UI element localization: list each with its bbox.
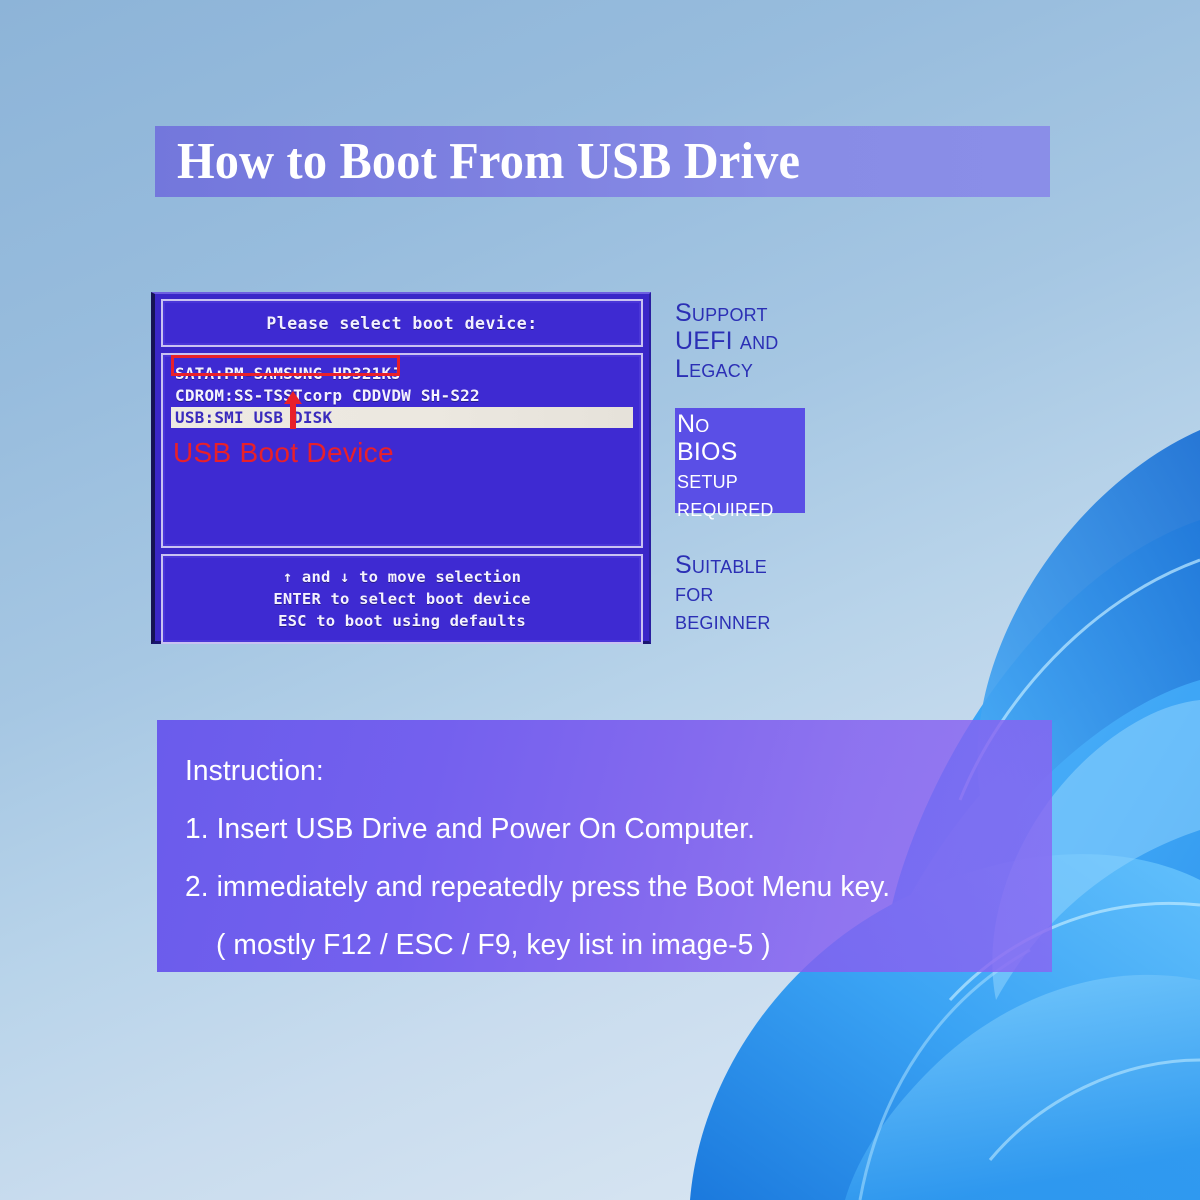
bios-device-row[interactable]: CDROM:SS-TSSTcorp CDDVDW SH-S22 — [163, 385, 641, 407]
bios-footer-line: ENTER to select boot device — [273, 588, 530, 610]
bios-boot-menu-screenshot: Please select boot device: SATA:PM-SAMSU… — [151, 292, 651, 644]
bios-device-list: SATA:PM-SAMSUNG HD321KJ CDROM:SS-TSSTcor… — [161, 353, 643, 548]
usb-boot-device-annotation: USB Boot Device — [173, 437, 394, 469]
bios-header-text: Please select boot device: — [266, 314, 537, 333]
bios-device-row[interactable]: SATA:PM-SAMSUNG HD321KJ — [163, 363, 641, 385]
instruction-step: 2. immediately and repeatedly press the … — [185, 858, 1026, 916]
bios-footer-line: ↑ and ↓ to move selection — [283, 566, 521, 588]
feature-line: Legacy — [675, 355, 825, 383]
feature-line: setup — [677, 466, 805, 494]
feature-suitable-for-beginner: Suitable for beginner — [675, 551, 835, 635]
feature-line: Support — [675, 299, 825, 327]
feature-line: for — [675, 579, 835, 607]
instruction-panel: Instruction: 1. Insert USB Drive and Pow… — [157, 720, 1052, 972]
feature-line: Suitable — [675, 551, 835, 579]
feature-line: No — [677, 410, 805, 438]
bios-header-panel: Please select boot device: — [161, 299, 643, 347]
bios-footer-panel: ↑ and ↓ to move selection ENTER to selec… — [161, 554, 643, 644]
instruction-step: 1. Insert USB Drive and Power On Compute… — [185, 800, 1026, 858]
page-title: How to Boot From USB Drive — [177, 136, 800, 188]
feature-line: BIOS — [677, 438, 805, 466]
bios-device-row-selected-usb[interactable]: USB:SMI USB DISK — [171, 407, 633, 428]
instruction-heading: Instruction: — [185, 742, 1026, 800]
feature-line: UEFI and — [675, 327, 825, 355]
instruction-note: ( mostly F12 / ESC / F9, key list in ima… — [185, 916, 1026, 974]
bios-footer-line: ESC to boot using defaults — [278, 610, 526, 632]
feature-line: required — [677, 494, 805, 522]
feature-no-bios-setup-required: No BIOS setup required — [675, 408, 805, 513]
feature-support-uefi-legacy: Support UEFI and Legacy — [675, 299, 825, 383]
page-root: How to Boot From USB Drive Please select… — [0, 0, 1200, 1200]
page-title-banner: How to Boot From USB Drive — [155, 126, 1050, 197]
feature-line: beginner — [675, 607, 835, 635]
up-arrow-icon — [284, 391, 302, 429]
